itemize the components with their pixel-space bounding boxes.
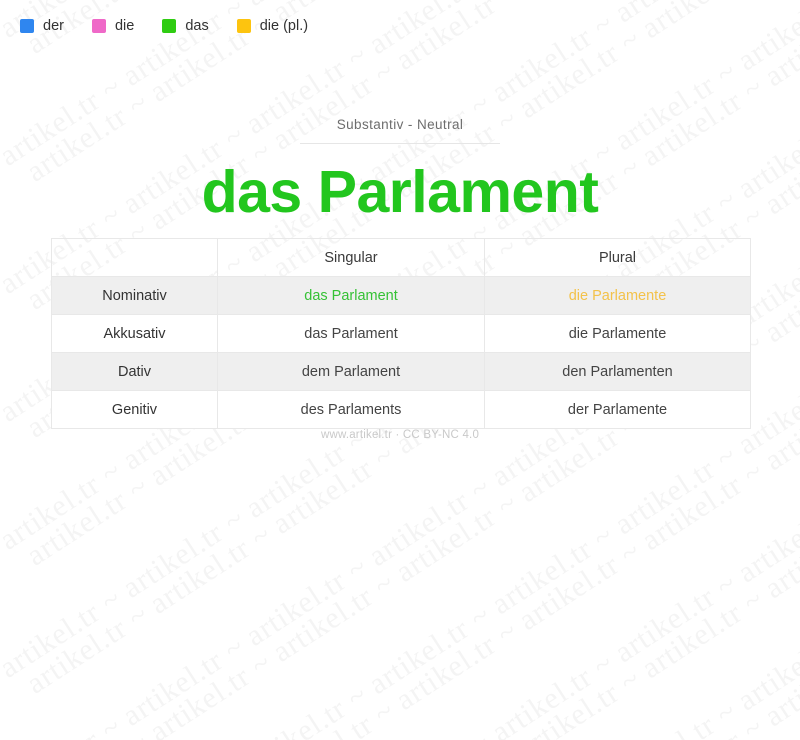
column-header-plural: Plural bbox=[485, 239, 751, 277]
declension-table: Singular Plural Nominativ das Parlament … bbox=[51, 238, 751, 429]
case-label-nominativ: Nominativ bbox=[52, 277, 218, 315]
title-divider bbox=[300, 143, 500, 144]
case-label-genitiv: Genitiv bbox=[52, 391, 218, 429]
cell-akkusativ-plural: die Parlamente bbox=[485, 315, 751, 353]
attribution-footer: www.artikel.tr · CC BY-NC 4.0 bbox=[0, 429, 800, 441]
color-swatch-icon bbox=[20, 19, 34, 33]
table-header-row: Singular Plural bbox=[52, 239, 751, 277]
gender-legend: der die das die (pl.) bbox=[0, 0, 800, 52]
word-card: Substantiv - Neutral das Parlament Singu… bbox=[0, 0, 800, 533]
legend-item-die: die bbox=[92, 19, 134, 34]
legend-item-der: der bbox=[20, 19, 64, 34]
column-header-singular: Singular bbox=[218, 239, 485, 277]
table-row: Genitiv des Parlaments der Parlamente bbox=[52, 391, 751, 429]
word-type-subtitle: Substantiv - Neutral bbox=[0, 117, 800, 132]
cell-genitiv-singular: des Parlaments bbox=[218, 391, 485, 429]
legend-item-label: der bbox=[43, 19, 64, 34]
color-swatch-icon bbox=[92, 19, 106, 33]
cell-akkusativ-singular: das Parlament bbox=[218, 315, 485, 353]
column-header-case bbox=[52, 239, 218, 277]
cell-nominativ-plural: die Parlamente bbox=[485, 277, 751, 315]
page-title: das Parlament bbox=[0, 160, 800, 225]
table-row: Akkusativ das Parlament die Parlamente bbox=[52, 315, 751, 353]
legend-item-label: das bbox=[185, 19, 208, 34]
legend-item-label: die bbox=[115, 19, 134, 34]
legend-item-label: die (pl.) bbox=[260, 19, 308, 34]
watermark-text: artikel.tr ~ artikel.tr ~ artikel.tr ~ a… bbox=[0, 523, 800, 740]
cell-genitiv-plural: der Parlamente bbox=[485, 391, 751, 429]
watermark-text: artikel.tr ~ artikel.tr ~ artikel.tr ~ a… bbox=[22, 541, 800, 740]
legend-item-das: das bbox=[162, 19, 208, 34]
cell-dativ-plural: den Parlamenten bbox=[485, 353, 751, 391]
case-label-dativ: Dativ bbox=[52, 353, 218, 391]
watermark-text: artikel.tr ~ artikel.tr ~ artikel.tr ~ a… bbox=[22, 669, 800, 740]
cell-dativ-singular: dem Parlament bbox=[218, 353, 485, 391]
table-row: Dativ dem Parlament den Parlamenten bbox=[52, 353, 751, 391]
color-swatch-icon bbox=[237, 19, 251, 33]
watermark-text: artikel.tr ~ artikel.tr ~ artikel.tr ~ a… bbox=[0, 651, 800, 740]
case-label-akkusativ: Akkusativ bbox=[52, 315, 218, 353]
cell-nominativ-singular: das Parlament bbox=[218, 277, 485, 315]
legend-item-die-plural: die (pl.) bbox=[237, 19, 308, 34]
table-row: Nominativ das Parlament die Parlamente bbox=[52, 277, 751, 315]
color-swatch-icon bbox=[162, 19, 176, 33]
